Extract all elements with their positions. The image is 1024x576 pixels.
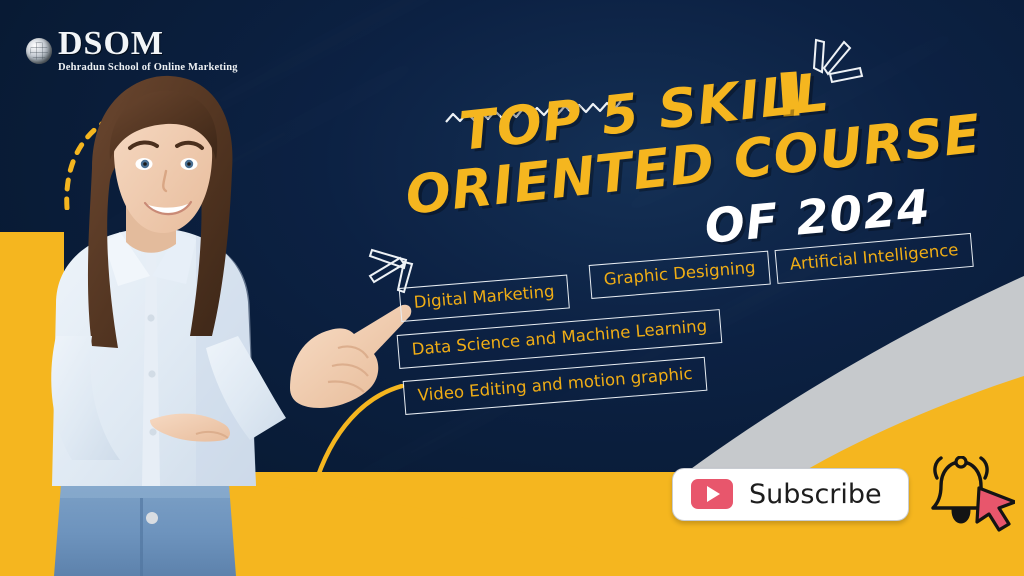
presenter-photo: [0, 36, 330, 576]
headline-group: TOP 5 SKILL ORIENTED COURSE OF 2024: [398, 86, 998, 256]
promo-banner: DSOM Dehradun School of Online Marketing…: [0, 0, 1024, 576]
subscribe-label: Subscribe: [749, 479, 882, 510]
subscribe-cta-group: Subscribe: [672, 456, 1015, 532]
brand-logo-text: DSOM Dehradun School of Online Marketing: [58, 27, 238, 74]
subscribe-button[interactable]: Subscribe: [672, 468, 909, 521]
brand-tagline: Dehradun School of Online Marketing: [58, 62, 238, 74]
bell-and-cursor-group[interactable]: [923, 456, 1015, 532]
brand-logo[interactable]: DSOM Dehradun School of Online Marketing: [26, 27, 238, 74]
globe-icon: [26, 38, 52, 64]
yellow-curve-line: [288, 384, 408, 499]
youtube-play-icon: [691, 479, 733, 509]
brand-name: DSOM: [58, 27, 238, 61]
